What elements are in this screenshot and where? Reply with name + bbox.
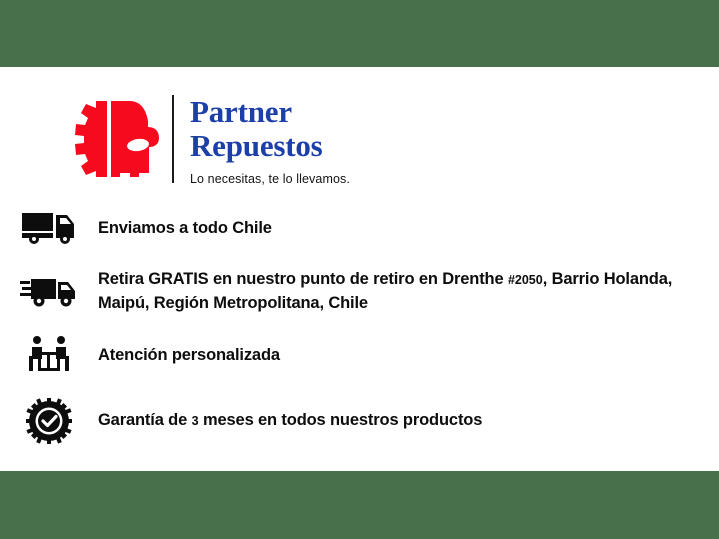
feature-item-warranty: Garantía de 3 meses en todos nuestros pr…	[0, 393, 719, 449]
fast-truck-icon	[20, 273, 78, 309]
feature-text-main-3: Garantía de	[98, 411, 192, 429]
delivery-truck-icon	[20, 211, 78, 245]
brand-line-repuestos: Repuestos	[190, 129, 350, 163]
brand-tagline: Lo necesitas, te lo llevamos.	[190, 172, 350, 186]
gear-car-logo-icon	[60, 97, 164, 181]
feature-text-pickup: Retira GRATIS en nuestro punto de retiro…	[98, 268, 719, 315]
feature-item-service: Atención personalizada	[0, 332, 719, 378]
people-at-table-icon	[20, 335, 78, 375]
content-stage: Partner Repuestos Lo necesitas, te lo ll…	[0, 67, 719, 471]
feature-item-pickup: Retira GRATIS en nuestro punto de retiro…	[0, 263, 719, 319]
logo-divider	[172, 95, 174, 183]
feature-text-main-1: Retira GRATIS en nuestro punto de retiro…	[98, 270, 508, 288]
feature-text-warranty: Garantía de 3 meses en todos nuestros pr…	[98, 409, 482, 433]
brand-line-partner: Partner	[190, 95, 350, 129]
feature-text-shipping: Enviamos a todo Chile	[98, 217, 272, 240]
top-green-banner	[0, 0, 719, 67]
promo-banner-page: { "theme": { "banner_green": "#47704b", …	[0, 0, 719, 539]
brand-logo-block: Partner Repuestos Lo necesitas, te lo ll…	[60, 95, 350, 186]
brand-wordmark: Partner Repuestos Lo necesitas, te lo ll…	[190, 95, 350, 186]
feature-text-main-0: Enviamos a todo Chile	[98, 219, 272, 237]
feature-text-service: Atención personalizada	[98, 344, 280, 367]
feature-text-address-number: #2050	[508, 273, 543, 287]
feature-text-warranty-months: 3	[192, 414, 199, 428]
feature-text-tail-3: meses en todos nuestros productos	[199, 411, 483, 429]
check-badge-icon	[20, 398, 78, 444]
bottom-green-banner	[0, 471, 719, 539]
feature-text-main-2: Atención personalizada	[98, 346, 280, 364]
feature-item-shipping: Enviamos a todo Chile	[0, 205, 719, 251]
